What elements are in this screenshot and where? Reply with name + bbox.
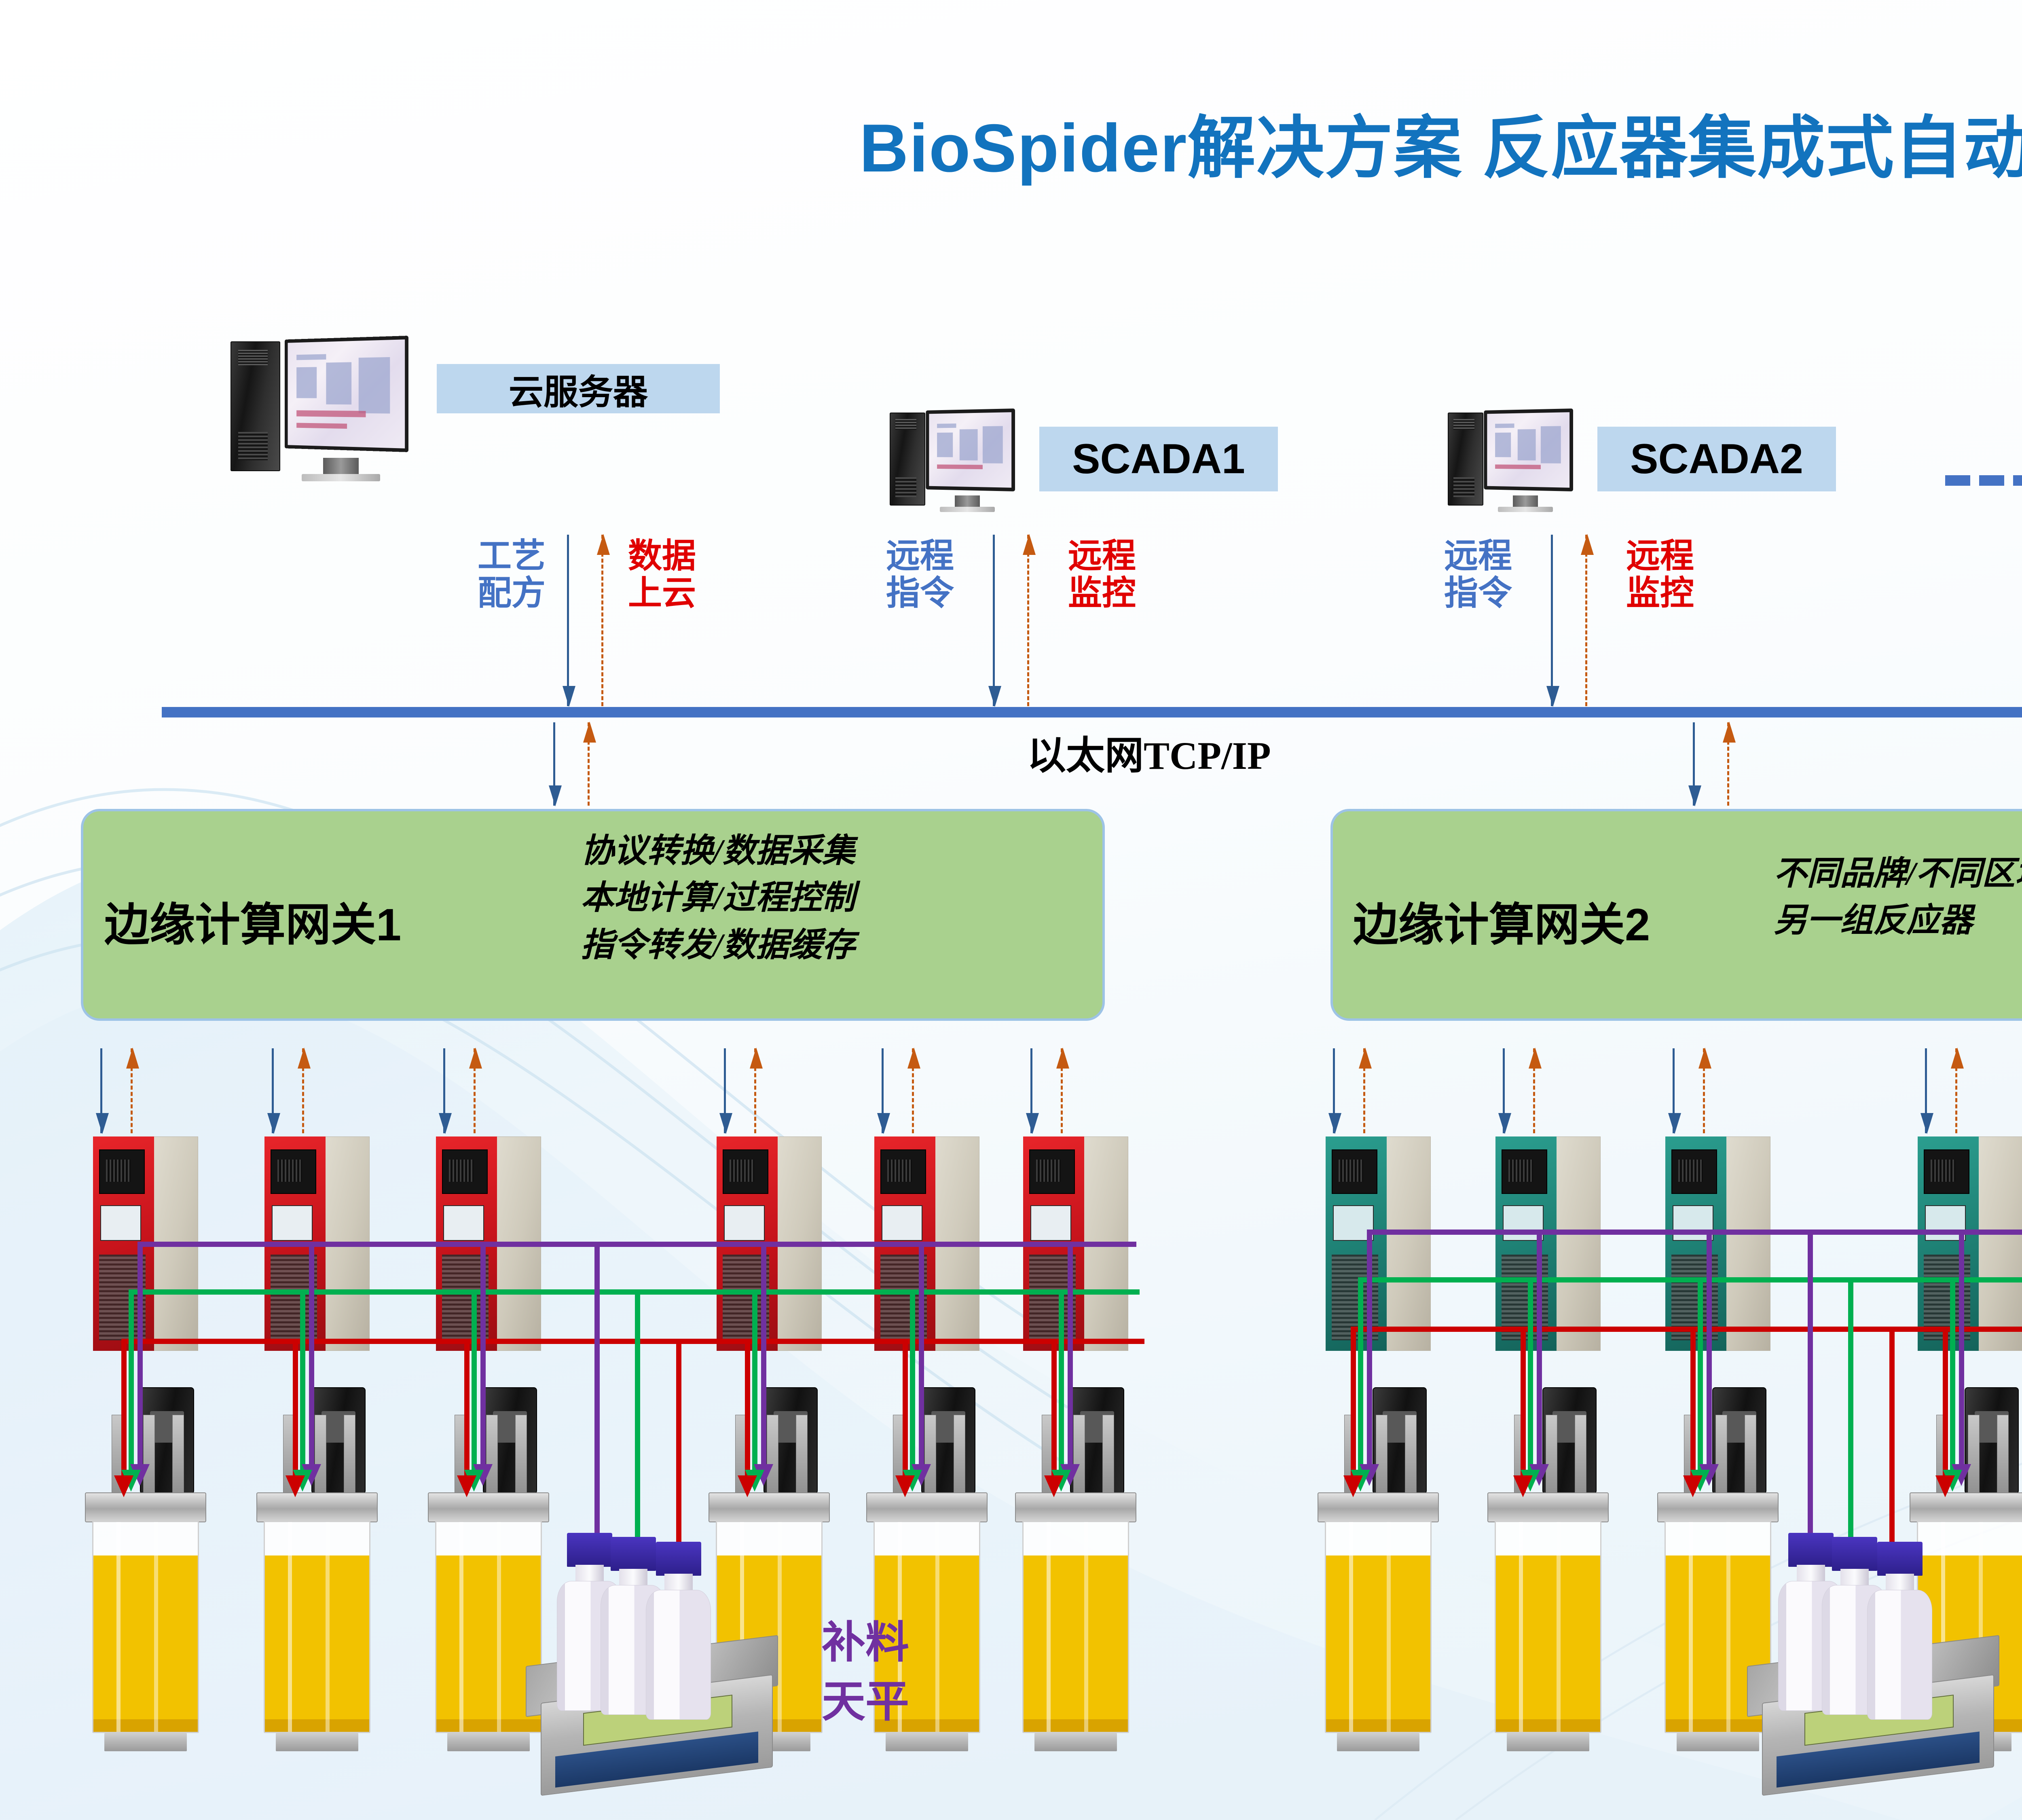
reactor8-link-arrows bbox=[1503, 1048, 1535, 1133]
red-arrow-icon bbox=[1935, 1475, 1955, 1497]
gateway2-subtitle: 不同品牌/不同区域 另一组反应器 bbox=[1774, 850, 2022, 944]
green-drop bbox=[1528, 1277, 1533, 1473]
reactor-controller[interactable] bbox=[1918, 1136, 2022, 1351]
red-arrow-icon bbox=[895, 1475, 915, 1497]
command-down-arrow-icon bbox=[272, 1048, 274, 1133]
reactor9-link-arrows bbox=[1673, 1048, 1705, 1133]
monitor-base bbox=[1498, 507, 1553, 512]
diagram-canvas: BioSpider解决方案 反应器集成式自动化技术架构 基于工艺配方全自动化运行… bbox=[0, 0, 2022, 1820]
scada1-up-label: 远程 监控 bbox=[1039, 538, 1165, 613]
red-arrow-icon bbox=[1044, 1475, 1064, 1497]
cloud-up-label: 数据 上云 bbox=[611, 538, 713, 613]
cloud-server-computer-icon bbox=[231, 336, 408, 481]
command-down-arrow-icon bbox=[1333, 1048, 1335, 1133]
command-down-arrow-icon bbox=[100, 1048, 102, 1133]
scada2-up-label: 远程 监控 bbox=[1597, 538, 1723, 613]
monitor-screen bbox=[288, 339, 405, 448]
data-up-arrow-icon bbox=[1955, 1048, 1957, 1133]
command-down-arrow-icon bbox=[1030, 1048, 1032, 1133]
data-up-arrow-icon bbox=[601, 535, 603, 706]
purple-drop bbox=[137, 1242, 143, 1468]
purple-signal-bus bbox=[1367, 1230, 2022, 1235]
scada2-label: SCADA2 bbox=[1630, 435, 1803, 483]
monitor-icon bbox=[1484, 408, 1573, 491]
purple-drop bbox=[919, 1242, 924, 1468]
cloud-server-label: 云服务器 bbox=[509, 364, 648, 414]
reactor-controller[interactable] bbox=[1665, 1136, 1770, 1351]
red-drop bbox=[293, 1339, 298, 1478]
red-arrow-icon bbox=[457, 1475, 476, 1497]
command-down-arrow-icon bbox=[1925, 1048, 1927, 1133]
green-drop bbox=[300, 1289, 305, 1473]
reactor1-link-arrows bbox=[100, 1048, 133, 1133]
reactor-controller[interactable] bbox=[1495, 1136, 1601, 1351]
red-arrow-icon bbox=[114, 1475, 133, 1497]
green-drop bbox=[910, 1289, 915, 1473]
green-drop bbox=[1698, 1277, 1703, 1473]
bioreactor-vessel[interactable] bbox=[1487, 1492, 1609, 1751]
purple-drop bbox=[309, 1242, 314, 1468]
monitor-icon bbox=[926, 408, 1015, 491]
command-down-arrow-icon bbox=[443, 1048, 445, 1133]
data-up-arrow-icon bbox=[1061, 1048, 1063, 1133]
scada2-down-label: 远程 指令 bbox=[1415, 538, 1541, 613]
reactor3-link-arrows bbox=[443, 1048, 476, 1133]
purple-drop bbox=[1068, 1242, 1073, 1468]
green-drop bbox=[472, 1289, 477, 1473]
purple-drop bbox=[1367, 1230, 1372, 1468]
edge-gateway-2[interactable]: 边缘计算网关2 不同品牌/不同区域 另一组反应器 bbox=[1330, 809, 2022, 1021]
reactor7-link-arrows bbox=[1333, 1048, 1365, 1133]
red-drop bbox=[1351, 1327, 1356, 1478]
feed-bottle bbox=[643, 1542, 714, 1720]
gateway1-title: 边缘计算网关1 bbox=[104, 888, 401, 954]
red-signal-bus bbox=[121, 1339, 1144, 1344]
feed-balance-annotation: 补料 天平 bbox=[780, 1614, 950, 1732]
data-up-arrow-icon bbox=[1727, 722, 1729, 806]
reactor2-link-arrows bbox=[272, 1048, 304, 1133]
red-drop bbox=[1690, 1327, 1696, 1478]
command-down-arrow-icon bbox=[882, 1048, 884, 1133]
dash-segment bbox=[2013, 475, 2022, 486]
red-drop bbox=[745, 1339, 750, 1478]
scada1-flow-arrows bbox=[993, 535, 1029, 706]
monitor-base bbox=[302, 474, 380, 481]
purple-drop bbox=[480, 1242, 486, 1468]
reactor-controller[interactable] bbox=[1326, 1136, 1431, 1351]
purple-signal-bus bbox=[137, 1242, 1136, 1247]
green-drop bbox=[1059, 1289, 1064, 1473]
red-drop bbox=[464, 1339, 470, 1478]
reactor4-link-arrows bbox=[724, 1048, 756, 1133]
command-down-arrow-icon bbox=[567, 535, 569, 706]
cloud-server-label-chip: 云服务器 bbox=[437, 364, 720, 413]
scada2-tower-icon bbox=[1448, 413, 1483, 505]
scada2-flow-arrows bbox=[1551, 535, 1587, 706]
green-drop bbox=[1358, 1277, 1363, 1473]
scada1-tower-icon bbox=[890, 413, 925, 505]
scada1-label-chip: SCADA1 bbox=[1039, 427, 1278, 491]
data-up-arrow-icon bbox=[131, 1048, 133, 1133]
gateway2-title: 边缘计算网关2 bbox=[1353, 888, 1650, 954]
green-signal-bus bbox=[129, 1289, 1140, 1295]
command-down-arrow-icon bbox=[1673, 1048, 1675, 1133]
command-down-arrow-icon bbox=[724, 1048, 726, 1133]
purple-drop bbox=[1959, 1230, 1964, 1468]
scada1-computer-icon bbox=[890, 408, 1015, 512]
red-arrow-icon bbox=[1343, 1475, 1363, 1497]
cloud-server-flow-arrows bbox=[567, 535, 603, 706]
data-up-arrow-icon bbox=[1363, 1048, 1365, 1133]
data-up-arrow-icon bbox=[588, 722, 590, 806]
gateway2-uplink-arrows bbox=[1693, 722, 1729, 806]
command-down-arrow-icon bbox=[553, 722, 555, 806]
command-down-arrow-icon bbox=[1693, 722, 1695, 806]
feed-bottle bbox=[1864, 1542, 1935, 1720]
reactor10-link-arrows bbox=[1925, 1048, 1957, 1133]
gateway1-subtitle: 协议转换/数据采集 本地计算/过程控制 指令转发/数据缓存 bbox=[581, 827, 855, 969]
red-drop bbox=[1521, 1327, 1526, 1478]
scada1-down-label: 远程 指令 bbox=[857, 538, 983, 613]
data-up-arrow-icon bbox=[1533, 1048, 1535, 1133]
red-drop bbox=[903, 1339, 908, 1478]
green-drop bbox=[752, 1289, 757, 1473]
command-down-arrow-icon bbox=[1503, 1048, 1505, 1133]
monitor-screen bbox=[1487, 412, 1569, 487]
purple-drop bbox=[1537, 1230, 1542, 1468]
red-drop bbox=[1943, 1327, 1948, 1478]
scada1-label: SCADA1 bbox=[1072, 435, 1245, 483]
green-signal-bus bbox=[1358, 1277, 2022, 1282]
ethernet-bus-bar bbox=[162, 707, 2022, 717]
dash-segment bbox=[1979, 475, 2004, 486]
monitor-icon bbox=[284, 336, 408, 452]
red-arrow-icon bbox=[1683, 1475, 1703, 1497]
cloud-down-label: 工艺 配方 bbox=[465, 538, 558, 613]
red-drop bbox=[1051, 1339, 1057, 1478]
purple-drop bbox=[1707, 1230, 1712, 1468]
data-up-arrow-icon bbox=[302, 1048, 304, 1133]
data-up-arrow-icon bbox=[1585, 535, 1587, 706]
bioreactor-vessel[interactable] bbox=[1015, 1492, 1136, 1751]
green-drop bbox=[1950, 1277, 1955, 1473]
green-drop bbox=[129, 1289, 134, 1473]
data-up-arrow-icon bbox=[1027, 535, 1029, 706]
scada2-label-chip: SCADA2 bbox=[1597, 427, 1836, 491]
red-signal-bus bbox=[1351, 1327, 2022, 1332]
bioreactor-vessel[interactable] bbox=[256, 1492, 378, 1751]
bioreactor-vessel[interactable] bbox=[85, 1492, 206, 1751]
red-drop bbox=[121, 1339, 127, 1478]
bioreactor-vessel[interactable] bbox=[1318, 1492, 1439, 1751]
scada2-computer-icon bbox=[1448, 408, 1573, 512]
ethernet-bus-label: 以太网TCP/IP bbox=[1027, 724, 1271, 780]
monitor-screen bbox=[929, 412, 1011, 487]
command-down-arrow-icon bbox=[993, 535, 995, 706]
page-title: BioSpider解决方案 反应器集成式自动化技术架构 bbox=[0, 93, 2022, 191]
purple-drop bbox=[761, 1242, 766, 1468]
gateway1-uplink-arrows bbox=[553, 722, 590, 806]
multi-tank-annotation: 多罐复用 节省空间 bbox=[2002, 1602, 2022, 1720]
command-down-arrow-icon bbox=[1551, 535, 1553, 706]
reactor5-link-arrows bbox=[882, 1048, 914, 1133]
monitor-base bbox=[940, 507, 995, 512]
data-up-arrow-icon bbox=[754, 1048, 756, 1133]
reactor6-link-arrows bbox=[1030, 1048, 1063, 1133]
data-up-arrow-icon bbox=[1703, 1048, 1705, 1133]
red-arrow-icon bbox=[286, 1475, 305, 1497]
edge-gateway-1[interactable]: 边缘计算网关1 协议转换/数据采集 本地计算/过程控制 指令转发/数据缓存 bbox=[81, 809, 1105, 1021]
data-up-arrow-icon bbox=[474, 1048, 476, 1133]
dash-segment bbox=[1945, 475, 1970, 486]
red-arrow-icon bbox=[1513, 1475, 1533, 1497]
server-tower-icon bbox=[231, 341, 280, 471]
data-up-arrow-icon bbox=[912, 1048, 914, 1133]
more-scada-indicator bbox=[1945, 475, 2022, 486]
red-arrow-icon bbox=[738, 1475, 757, 1497]
